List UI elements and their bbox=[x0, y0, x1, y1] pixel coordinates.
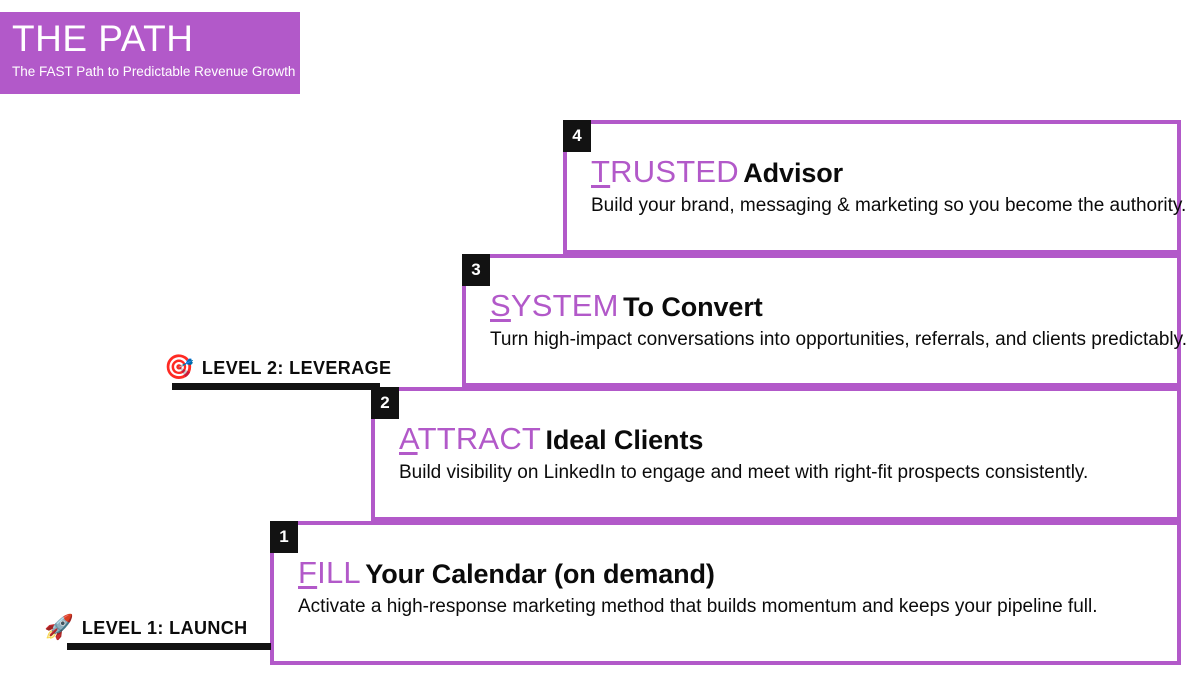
step-description-4: Build your brand, messaging & marketing … bbox=[591, 195, 1167, 218]
step-keyword-4: TRUSTED bbox=[591, 154, 739, 189]
step-content-2: ATTRACT Ideal Clients Build visibility o… bbox=[399, 423, 1167, 484]
rocket-icon: 🚀 bbox=[44, 616, 74, 640]
step-description-1: Activate a high-response marketing metho… bbox=[298, 596, 1167, 619]
step-description-3: Turn high-impact conversations into oppo… bbox=[490, 329, 1167, 352]
step-heading-4: TRUSTED Advisor bbox=[591, 156, 1167, 189]
step-keyword-rest-3: YSTEM bbox=[511, 288, 619, 323]
step-keyword-3: SYSTEM bbox=[490, 288, 619, 323]
step-keyword-rest-1: ILL bbox=[317, 555, 361, 590]
level-2-label: LEVEL 2: LEVERAGE bbox=[202, 358, 392, 379]
level-1-label: LEVEL 1: LAUNCH bbox=[82, 618, 248, 639]
step-heading-rest-1: Your Calendar (on demand) bbox=[365, 559, 715, 589]
step-keyword-initial-3: S bbox=[490, 288, 511, 323]
step-content-1: FILL Your Calendar (on demand) Activate … bbox=[298, 557, 1167, 618]
step-keyword-initial-4: T bbox=[591, 154, 610, 189]
step-keyword-1: FILL bbox=[298, 555, 361, 590]
step-keyword-initial-2: A bbox=[399, 421, 418, 456]
step-content-3: SYSTEM To Convert Turn high-impact conve… bbox=[490, 290, 1167, 351]
step-heading-2: ATTRACT Ideal Clients bbox=[399, 423, 1167, 456]
level-marker-1: 🚀 LEVEL 1: LAUNCH bbox=[44, 616, 271, 650]
step-number-badge-4: 4 bbox=[563, 120, 591, 152]
level-marker-2: 🎯 LEVEL 2: LEVERAGE bbox=[164, 356, 391, 390]
step-card-1[interactable]: 1 FILL Your Calendar (on demand) Activat… bbox=[270, 521, 1181, 665]
step-heading-rest-2: Ideal Clients bbox=[546, 425, 704, 455]
step-card-3[interactable]: 3 SYSTEM To Convert Turn high-impact con… bbox=[462, 254, 1181, 387]
step-heading-rest-4: Advisor bbox=[743, 158, 843, 188]
step-number-badge-1: 1 bbox=[270, 521, 298, 553]
step-heading-1: FILL Your Calendar (on demand) bbox=[298, 557, 1167, 590]
page-subtitle: The FAST Path to Predictable Revenue Gro… bbox=[12, 63, 300, 81]
level-2-row: 🎯 LEVEL 2: LEVERAGE bbox=[164, 356, 391, 380]
target-icon: 🎯 bbox=[164, 356, 194, 380]
level-1-rule bbox=[67, 643, 271, 650]
header-banner: THE PATH The FAST Path to Predictable Re… bbox=[0, 12, 300, 94]
step-keyword-initial-1: F bbox=[298, 555, 317, 590]
page-title: THE PATH bbox=[12, 16, 300, 62]
level-2-rule bbox=[172, 383, 380, 390]
step-number-badge-3: 3 bbox=[462, 254, 490, 286]
step-heading-3: SYSTEM To Convert bbox=[490, 290, 1167, 323]
step-content-4: TRUSTED Advisor Build your brand, messag… bbox=[591, 156, 1167, 217]
step-keyword-rest-4: RUSTED bbox=[610, 154, 739, 189]
slide-canvas: THE PATH The FAST Path to Predictable Re… bbox=[0, 0, 1200, 675]
step-number-badge-2: 2 bbox=[371, 387, 399, 419]
step-keyword-rest-2: TTRACT bbox=[418, 421, 541, 456]
step-card-2[interactable]: 2 ATTRACT Ideal Clients Build visibility… bbox=[371, 387, 1181, 521]
step-description-2: Build visibility on LinkedIn to engage a… bbox=[399, 462, 1167, 485]
step-card-4[interactable]: 4 TRUSTED Advisor Build your brand, mess… bbox=[563, 120, 1181, 254]
step-heading-rest-3: To Convert bbox=[623, 292, 763, 322]
step-keyword-2: ATTRACT bbox=[399, 421, 541, 456]
level-1-row: 🚀 LEVEL 1: LAUNCH bbox=[44, 616, 271, 640]
